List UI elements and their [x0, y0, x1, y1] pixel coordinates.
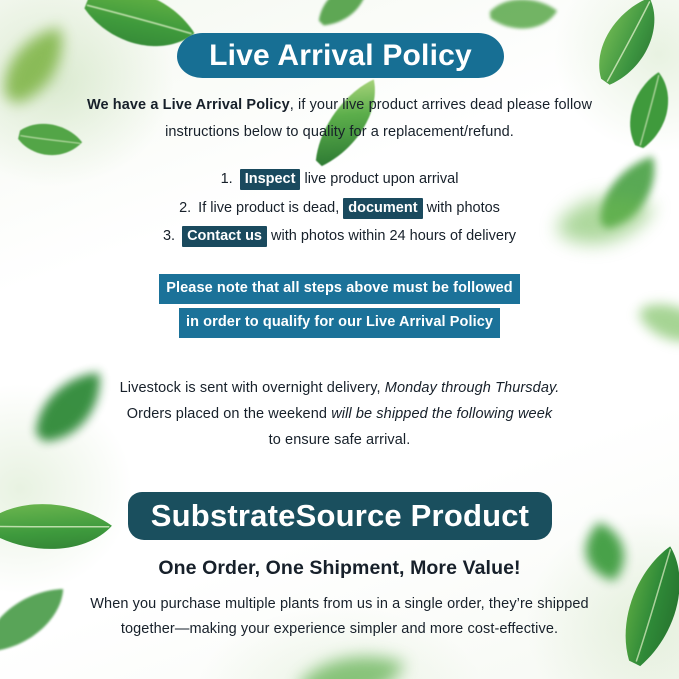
step-item: 1. Inspect live product upon arrival: [0, 165, 679, 194]
step-highlight-inspect: Inspect: [240, 169, 301, 190]
shipping-line3: to ensure safe arrival.: [269, 432, 411, 448]
policy-note-row: in order to qualify for our Live Arrival…: [0, 308, 679, 338]
step-number: 1.: [221, 171, 233, 187]
content-layer: Live Arrival Policy We have a Live Arriv…: [0, 0, 679, 679]
step-after-text: with photos within 24 hours of delivery: [267, 228, 516, 244]
intro-line2: instructions below to quality for a repl…: [165, 124, 514, 140]
steps-list: 1. Inspect live product upon arrival 2. …: [0, 165, 679, 251]
step-item: 2. If live product is dead, document wit…: [0, 194, 679, 223]
step-highlight-contact-us: Contact us: [182, 226, 267, 247]
intro-bold-lead: We have a Live Arrival Policy: [87, 97, 290, 113]
shipping-line1-italic: Monday through Thursday.: [385, 380, 560, 396]
live-arrival-policy-banner-label: Live Arrival Policy: [209, 39, 472, 73]
shipping-line2-plain: Orders placed on the weekend: [127, 406, 331, 422]
step-after-text: with photos: [423, 200, 500, 216]
closing-line1: When you purchase multiple plants from u…: [90, 596, 588, 612]
intro-rest-line1: , if your live product arrives dead plea…: [290, 97, 592, 113]
step-before-text: If live product is dead,: [194, 200, 343, 216]
value-tagline-text: One Order, One Shipment, More Value!: [158, 557, 520, 579]
step-number: 3.: [163, 228, 175, 244]
policy-note-row: Please note that all steps above must be…: [0, 274, 679, 304]
shipping-line2-italic: will be shipped the following week: [331, 406, 552, 422]
shipping-line1-plain: Livestock is sent with overnight deliver…: [120, 380, 385, 396]
step-item: 3. Contact us with photos within 24 hour…: [0, 222, 679, 251]
live-arrival-policy-infographic: Live Arrival Policy We have a Live Arriv…: [0, 0, 679, 679]
intro-paragraph: We have a Live Arrival Policy, if your l…: [0, 92, 679, 146]
substrate-source-product-banner-label: SubstrateSource Product: [151, 498, 529, 534]
policy-note-block: Please note that all steps above must be…: [0, 274, 679, 342]
step-number: 2.: [179, 200, 191, 216]
substrate-source-product-banner: SubstrateSource Product: [128, 492, 552, 540]
step-highlight-document: document: [343, 198, 422, 219]
step-after-text: live product upon arrival: [300, 171, 458, 187]
value-tagline: One Order, One Shipment, More Value!: [0, 557, 679, 580]
live-arrival-policy-banner: Live Arrival Policy: [177, 33, 504, 78]
policy-note-line-2: in order to qualify for our Live Arrival…: [179, 308, 500, 338]
closing-paragraph: When you purchase multiple plants from u…: [0, 592, 679, 642]
closing-line2: together—making your experience simpler …: [121, 621, 558, 637]
shipping-paragraph: Livestock is sent with overnight deliver…: [0, 375, 679, 453]
policy-note-line-1: Please note that all steps above must be…: [159, 274, 520, 304]
